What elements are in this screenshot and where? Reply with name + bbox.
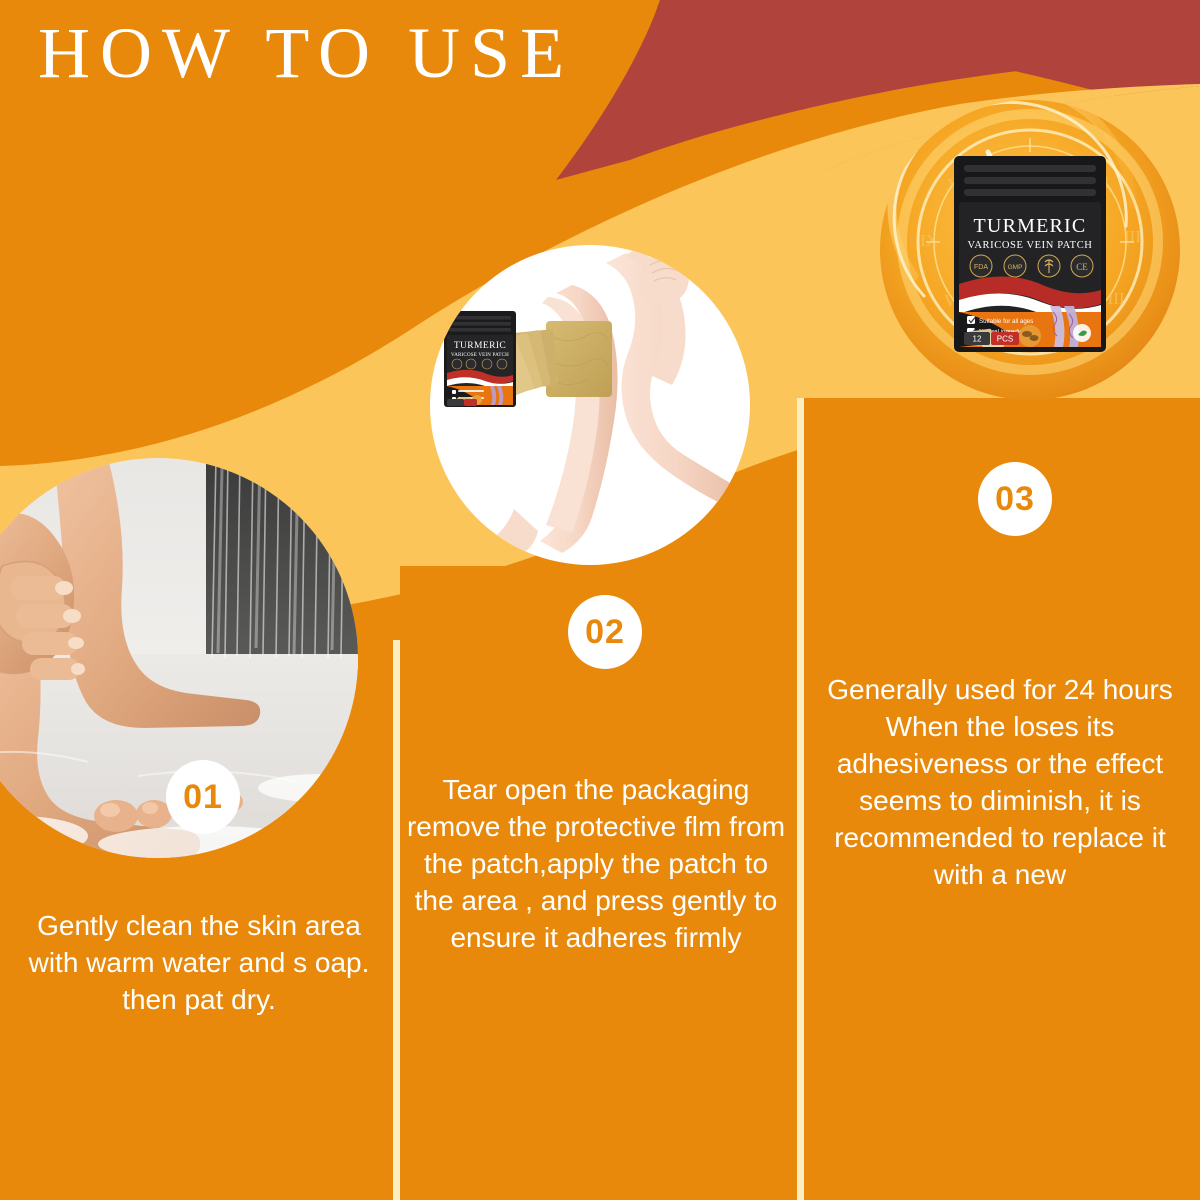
svg-text:Suitable for all ages: Suitable for all ages (979, 318, 1033, 325)
step-1-caption: Gently clean the skin area with warm wat… (10, 908, 388, 1019)
column-divider-left (393, 640, 400, 1200)
svg-text:GMP: GMP (1008, 264, 1023, 271)
column-divider-right (797, 398, 804, 1200)
svg-text:IX: IX (920, 231, 938, 250)
svg-text:12: 12 (973, 335, 982, 344)
svg-text:III: III (1124, 227, 1141, 246)
step-2-number: 02 (568, 595, 642, 669)
product-name-text: TURMERIC (974, 215, 1087, 237)
page-title: HOW TO USE (38, 16, 574, 92)
leg-patch-illustration: TURMERIC VARICOSE VEIN PATCH (430, 245, 750, 565)
svg-text:PCS: PCS (997, 335, 1013, 344)
step-3-photo: IIIII IIIIVI VIIIIXX TURMERIC VARICOSE V… (880, 100, 1180, 400)
svg-text:TURMERIC: TURMERIC (454, 341, 506, 351)
svg-text:CE: CE (1076, 262, 1088, 272)
product-subtitle-text: VARICOSE VEIN PATCH (968, 240, 1093, 251)
step-2-caption: Tear open the packaging remove the prote… (404, 772, 788, 957)
clock-pouch-illustration: IIIII IIIIVI VIIIIXX TURMERIC VARICOSE V… (880, 100, 1180, 400)
step-3-caption: Generally used for 24 hours When the los… (806, 672, 1194, 894)
step-3-number: 03 (978, 462, 1052, 536)
svg-text:FDA: FDA (974, 264, 988, 271)
step-2-photo: TURMERIC VARICOSE VEIN PATCH (430, 245, 750, 565)
svg-text:VARICOSE VEIN PATCH: VARICOSE VEIN PATCH (451, 353, 509, 358)
step-1-number: 01 (166, 760, 240, 834)
